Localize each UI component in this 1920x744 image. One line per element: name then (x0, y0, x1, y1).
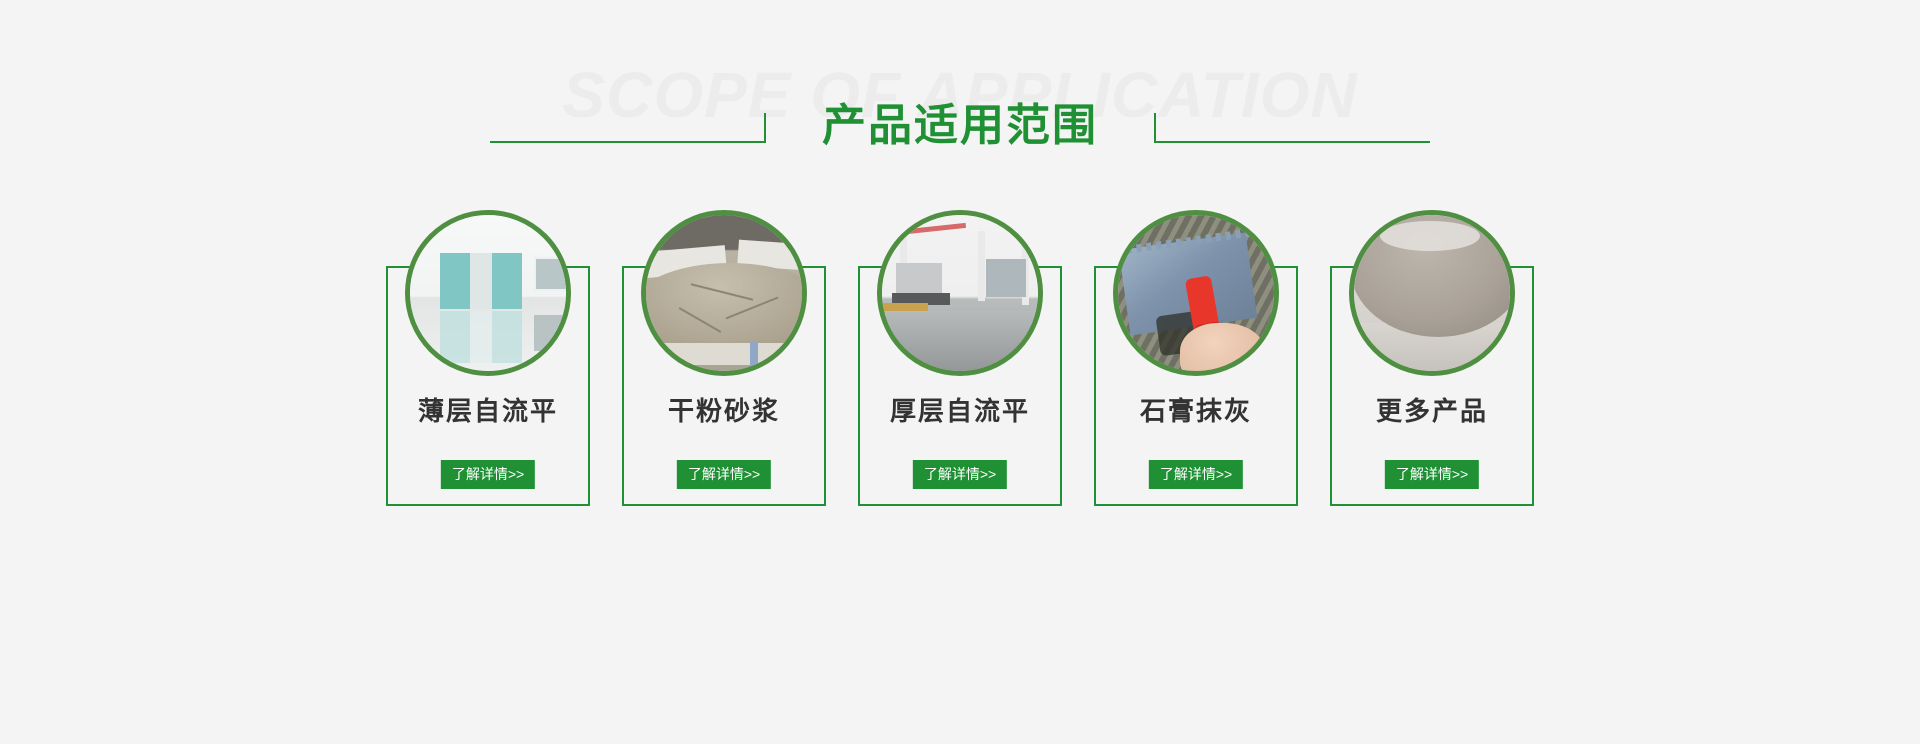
decoration-tick-left (764, 113, 766, 143)
card-label: 干粉砂浆 (622, 398, 826, 424)
learn-more-button[interactable]: 了解详情>> (1385, 460, 1479, 489)
decoration-tick-right (1154, 113, 1156, 143)
page-title: 产品适用范围 (766, 104, 1154, 148)
card-label: 更多产品 (1330, 398, 1534, 424)
card-thumbnail[interactable] (641, 210, 807, 376)
card-thumbnail[interactable] (1349, 210, 1515, 376)
application-card[interactable]: 薄层自流平 了解详情>> (386, 210, 590, 510)
title-decoration-right (1154, 109, 1430, 143)
learn-more-button[interactable]: 了解详情>> (441, 460, 535, 489)
card-label: 薄层自流平 (386, 398, 590, 424)
application-card[interactable]: 石膏抹灰 了解详情>> (1094, 210, 1298, 510)
thick-self-leveling-floor-image (882, 215, 1038, 371)
decoration-line-left (490, 141, 766, 143)
card-thumbnail[interactable] (877, 210, 1043, 376)
gypsum-plastering-trowel-image (1118, 215, 1274, 371)
card-label: 石膏抹灰 (1094, 398, 1298, 424)
application-card[interactable]: 干粉砂浆 了解详情>> (622, 210, 826, 510)
application-card-list: 薄层自流平 了解详情>> 干粉砂浆 了解详情>> (0, 210, 1920, 510)
more-products-image (1354, 215, 1510, 371)
application-card[interactable]: 厚层自流平 了解详情>> (858, 210, 1062, 510)
learn-more-button[interactable]: 了解详情>> (677, 460, 771, 489)
application-card[interactable]: 更多产品 了解详情>> (1330, 210, 1534, 510)
learn-more-button[interactable]: 了解详情>> (1149, 460, 1243, 489)
title-decoration-left (490, 109, 766, 143)
thin-self-leveling-floor-image (410, 215, 566, 371)
title-row: 产品适用范围 (0, 104, 1920, 148)
dry-powder-mortar-image (646, 215, 802, 371)
decoration-line-right (1154, 141, 1430, 143)
learn-more-button[interactable]: 了解详情>> (913, 460, 1007, 489)
card-thumbnail[interactable] (405, 210, 571, 376)
card-thumbnail[interactable] (1113, 210, 1279, 376)
section-header: SCOPE OF APPLICATION 产品适用范围 (0, 0, 1920, 200)
card-label: 厚层自流平 (858, 398, 1062, 424)
